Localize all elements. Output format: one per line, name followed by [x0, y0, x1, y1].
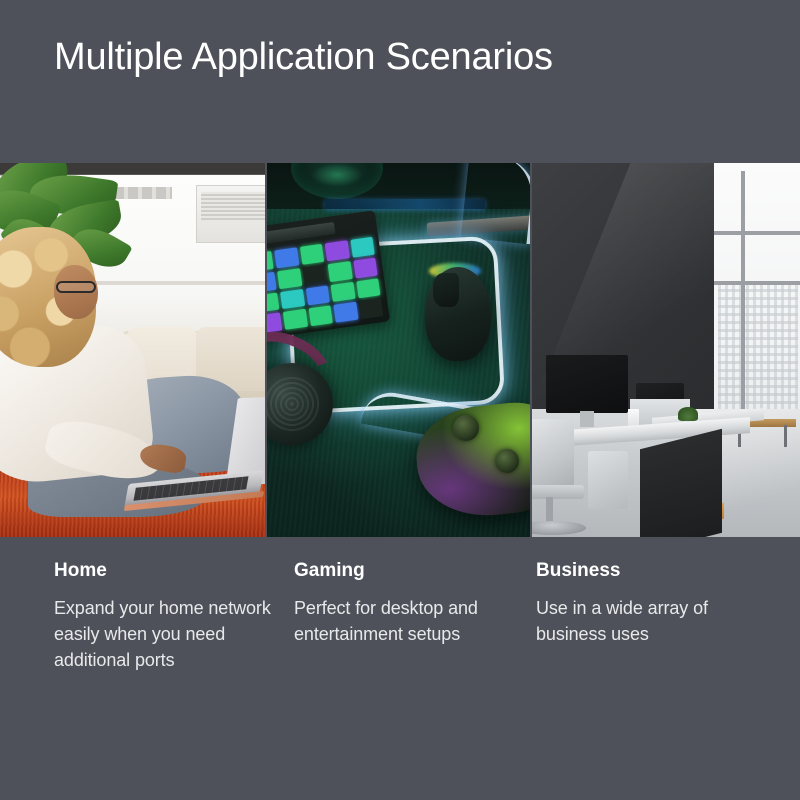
gaming-glowing-cable: [461, 163, 530, 244]
business-monitor-primary: [546, 355, 628, 413]
business-bench-leg: [784, 425, 787, 447]
gaming-blue-light-bar: [325, 199, 485, 209]
business-office-chair-far: [588, 451, 628, 509]
scenario-image-business: [532, 163, 800, 537]
scenario-image-band: [0, 163, 800, 537]
scenario-description-business: Use in a wide array of business uses: [536, 595, 758, 647]
scenario-title-home: Home: [54, 560, 276, 583]
gaming-mouse-icon: [425, 267, 491, 361]
business-window-mullions: [714, 171, 800, 423]
scenario-description-home: Expand your home network easily when you…: [54, 595, 276, 673]
gaming-controller-stick-left: [453, 415, 479, 441]
business-desk-side-panel: [640, 429, 722, 537]
scenario-title-business: Business: [536, 560, 758, 583]
page-title: Multiple Application Scenarios: [54, 36, 553, 80]
scenario-column-gaming: Gaming Perfect for desktop and entertain…: [294, 560, 516, 647]
home-person-glasses: [56, 281, 96, 293]
gaming-headset-icon: [267, 337, 357, 457]
home-air-conditioner: [196, 185, 265, 243]
gaming-rgb-keypad-icon: [267, 210, 390, 340]
scenario-image-gaming: [267, 163, 530, 537]
scenario-title-gaming: Gaming: [294, 560, 516, 583]
business-monitor-stand: [580, 411, 594, 427]
business-desk-plant: [678, 407, 698, 421]
business-office-chair-seat: [532, 485, 584, 499]
gaming-controller-stick-right: [495, 449, 519, 473]
business-office-chair-back: [532, 419, 574, 495]
scenario-image-home: [0, 163, 265, 537]
scenario-column-business: Business Use in a wide array of business…: [536, 560, 758, 647]
scenario-description-gaming: Perfect for desktop and entertainment se…: [294, 595, 516, 647]
scenario-column-home: Home Expand your home network easily whe…: [54, 560, 276, 673]
